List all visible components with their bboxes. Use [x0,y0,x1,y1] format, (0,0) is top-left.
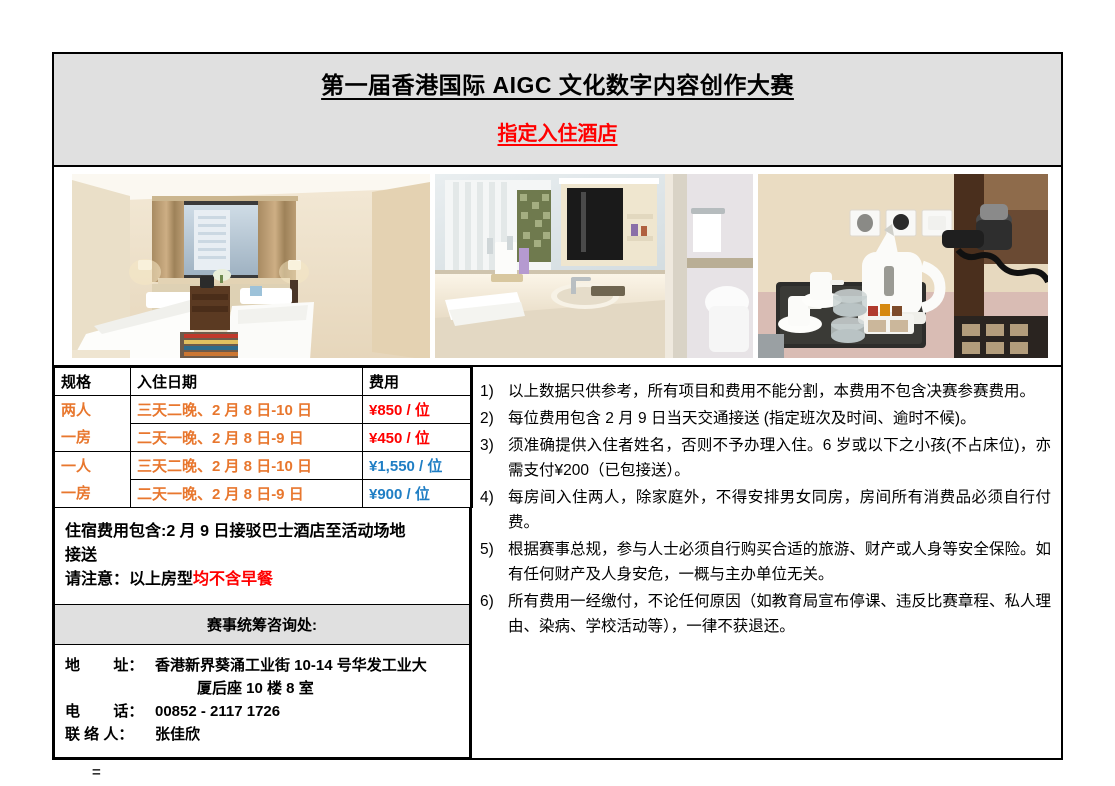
inclusion-line-1: 住宿费用包含:2 月 9 日接驳巴士酒店至活动场地 [65,520,459,544]
term-number: 5) [480,537,508,587]
left-column: 规格 入住日期 费用 两人 三天二晚、2 月 8 日-10 日 ¥850 / 位… [54,367,472,758]
contact-address-line2: 厦后座 10 楼 8 室 [155,677,459,700]
table-row: 两人 三天二晚、2 月 8 日-10 日 ¥850 / 位 [55,395,473,423]
room-spec-one-person-line1: 一人 [55,451,131,479]
term-text: 每位费用包含 2 月 9 日当天交通接送 (指定班次及时间、逾时不候)。 [508,406,1051,431]
title-band: 第一届香港国际 AIGC 文化数字内容创作大赛 指定入住酒店 [54,54,1061,167]
term-number: 1) [480,379,508,404]
contact-person-value: 张佳欣 [155,723,459,746]
term-text: 根据赛事总规，参与人士必须自行购买合适的旅游、财产或人身等安全保险。如有任何财产… [508,537,1051,587]
list-item: 6) 所有费用一经缴付，不论任何原因（如教育局宣布停课、违反比赛章程、私人理由、… [480,589,1051,639]
stay-fee: ¥450 / 位 [363,423,473,451]
stay-fee: ¥900 / 位 [363,479,473,507]
term-number: 6) [480,589,508,639]
lower-section: 规格 入住日期 费用 两人 三天二晚、2 月 8 日-10 日 ¥850 / 位… [54,367,1061,758]
hotel-photo-strip [54,167,1061,367]
contact-phone-label: 电 话： [65,700,155,723]
stay-fee: ¥1,550 / 位 [363,451,473,479]
column-header-spec: 规格 [55,367,131,395]
contact-address-line1: 香港新界葵涌工业街 10-14 号华发工业大 [155,657,427,674]
column-header-date: 入住日期 [131,367,363,395]
list-item: 3) 须准确提供入住者姓名，否则不予办理入住。6 岁或以下之小孩(不占床位)，亦… [480,433,1051,483]
table-row: 一房 二天一晚、2 月 8 日-9 日 ¥900 / 位 [55,479,473,507]
contact-address-label: 地 址： [65,654,155,701]
term-text: 以上数据只供参考，所有项目和费用不能分割，本费用不包含决赛参赛费用。 [508,379,1051,404]
table-row: 一房 二天一晚、2 月 8 日-9 日 ¥450 / 位 [55,423,473,451]
column-header-fee: 费用 [363,367,473,395]
price-table: 规格 入住日期 费用 两人 三天二晚、2 月 8 日-10 日 ¥850 / 位… [54,367,473,508]
contact-address-row: 地 址： 香港新界葵涌工业街 10-14 号华发工业大 厦后座 10 楼 8 室 [65,654,459,701]
breakfast-warning-line: 请注意：以上房型均不含早餐 [65,568,459,592]
list-item: 1) 以上数据只供参考，所有项目和费用不能分割，本费用不包含决赛参赛费用。 [480,379,1051,404]
contact-phone-value: 00852 - 2117 1726 [155,700,459,723]
list-item: 5) 根据赛事总规，参与人士必须自行购买合适的旅游、财产或人身等安全保险。如有任… [480,537,1051,587]
term-text: 每房间入住两人，除家庭外，不得安排男女同房，房间所有消费品必须自行付费。 [508,485,1051,535]
term-number: 2) [480,406,508,431]
inclusion-note-block: 住宿费用包含:2 月 9 日接驳巴士酒店至活动场地 接送 请注意：以上房型均不含… [54,508,470,605]
term-text: 所有费用一经缴付，不论任何原因（如教育局宣布停课、违反比赛章程、私人理由、染病、… [508,589,1051,639]
contact-person-row: 联 络 人： 张佳欣 [65,723,459,746]
hotel-amenities-photo [758,174,1048,358]
contact-section-header: 赛事统筹咨询处: [54,605,470,645]
flyer-page: 第一届香港国际 AIGC 文化数字内容创作大赛 指定入住酒店 [52,52,1063,760]
price-table-header-row: 规格 入住日期 费用 [55,367,473,395]
page-subtitle: 指定入住酒店 [498,119,618,149]
stay-date: 二天一晚、2 月 8 日-9 日 [131,479,363,507]
page-title: 第一届香港国际 AIGC 文化数字内容创作大赛 [321,68,794,103]
inclusion-line-2: 接送 [65,544,459,568]
stay-date: 二天一晚、2 月 8 日-9 日 [131,423,363,451]
table-row: 一人 三天二晚、2 月 8 日-10 日 ¥1,550 / 位 [55,451,473,479]
room-spec-two-person-line2: 一房 [55,423,131,451]
term-text: 须准确提供入住者姓名，否则不予办理入住。6 岁或以下之小孩(不占床位)，亦需支付… [508,433,1051,483]
stay-date: 三天二晚、2 月 8 日-10 日 [131,451,363,479]
contact-address-value: 香港新界葵涌工业街 10-14 号华发工业大 厦后座 10 楼 8 室 [155,654,459,701]
list-item: 4) 每房间入住两人，除家庭外，不得安排男女同房，房间所有消费品必须自行付费。 [480,485,1051,535]
room-spec-two-person-line1: 两人 [55,395,131,423]
terms-panel: 1) 以上数据只供参考，所有项目和费用不能分割，本费用不包含决赛参赛费用。 2)… [472,367,1061,758]
room-spec-one-person-line2: 一房 [55,479,131,507]
stay-fee: ¥850 / 位 [363,395,473,423]
contact-phone-row: 电 话： 00852 - 2117 1726 [65,700,459,723]
contact-person-label: 联 络 人： [65,723,155,746]
term-number: 4) [480,485,508,535]
terms-list: 1) 以上数据只供参考，所有项目和费用不能分割，本费用不包含决赛参赛费用。 2)… [480,379,1051,640]
term-number: 3) [480,433,508,483]
hotel-twin-room-photo [72,174,430,358]
contact-details: 地 址： 香港新界葵涌工业街 10-14 号华发工业大 厦后座 10 楼 8 室… [54,645,470,758]
hotel-bathroom-photo [435,174,753,358]
breakfast-warning-prefix: 请注意：以上房型 [65,571,193,588]
list-item: 2) 每位费用包含 2 月 9 日当天交通接送 (指定班次及时间、逾时不候)。 [480,406,1051,431]
breakfast-warning-highlight: 均不含早餐 [193,571,273,588]
stay-date: 三天二晚、2 月 8 日-10 日 [131,395,363,423]
trailing-equals-mark: = [52,758,101,781]
